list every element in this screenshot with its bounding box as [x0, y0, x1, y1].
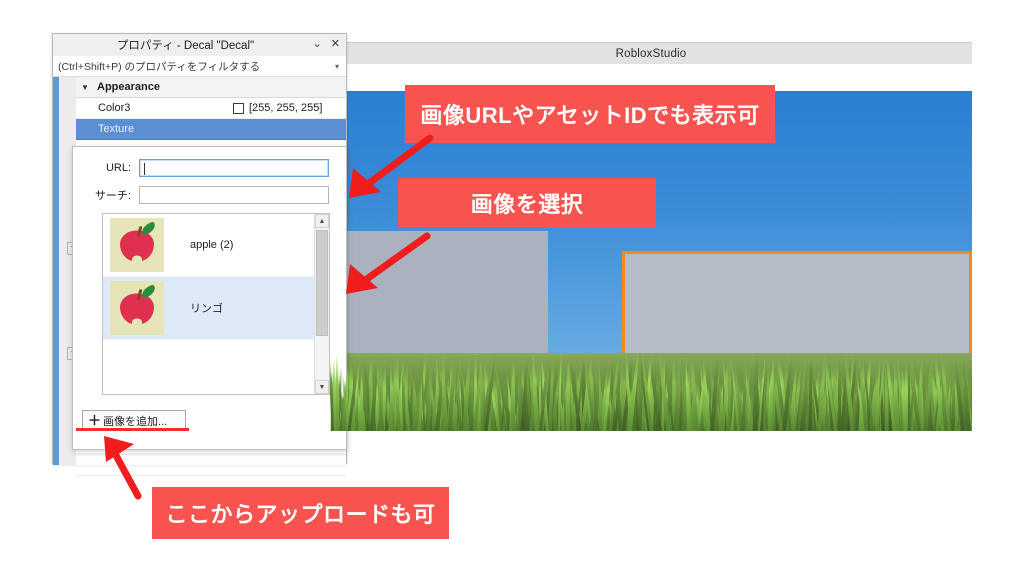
- url-field-row: URL:: [73, 159, 331, 177]
- apple-icon: [110, 218, 164, 272]
- image-picker-popup: URL: サーチ: apple (2): [72, 146, 347, 450]
- image-list[interactable]: apple (2) リンゴ ▲ ▼: [102, 213, 330, 395]
- scroll-up-icon[interactable]: ▲: [315, 214, 329, 228]
- arrow-to-image-list: [322, 228, 432, 308]
- property-name: Texture: [98, 123, 134, 135]
- screenshot-root: RobloxStudio プロパティ - Decal "Decal" ⌄ ✕: [0, 0, 1024, 562]
- annotation-url-asset: 画像URLやアセットIDでも表示可: [405, 85, 775, 143]
- url-input[interactable]: [139, 159, 329, 177]
- text-caret: [144, 163, 145, 175]
- list-item[interactable]: apple (2): [103, 214, 329, 276]
- property-row-color3[interactable]: Color3 [255, 255, 255]: [76, 98, 346, 119]
- chevron-down-icon[interactable]: ▾: [335, 62, 339, 71]
- annotation-text: 画像URLやアセットIDでも表示可: [420, 98, 759, 130]
- list-item-label: apple (2): [190, 239, 233, 251]
- properties-titlebar: プロパティ - Decal "Decal" ⌄ ✕: [53, 34, 346, 57]
- list-item[interactable]: リンゴ: [103, 277, 329, 339]
- apple-icon: [110, 281, 164, 335]
- annotation-select-image: 画像を選択: [398, 178, 656, 228]
- list-item-label: リンゴ: [190, 300, 223, 316]
- studio-titlebar: RobloxStudio: [330, 42, 972, 66]
- properties-section-appearance[interactable]: ▼ Appearance: [76, 77, 346, 98]
- arrow-to-add-button: [96, 432, 186, 502]
- url-label: URL:: [73, 162, 131, 174]
- list-separator: [103, 339, 329, 340]
- color-value-text: [255, 255, 255]: [249, 102, 322, 114]
- search-input[interactable]: [139, 186, 329, 204]
- annotation-upload-here: ここからアップロードも可: [152, 487, 449, 539]
- property-value[interactable]: [255, 255, 255]: [233, 102, 322, 114]
- properties-titlebar-buttons: ⌄ ✕: [313, 37, 340, 51]
- grass-layer: [330, 335, 972, 431]
- scroll-down-icon[interactable]: ▼: [315, 380, 329, 394]
- section-label: Appearance: [97, 81, 160, 93]
- grass-blade: [838, 355, 842, 431]
- close-icon[interactable]: ✕: [331, 37, 340, 51]
- color-swatch-icon[interactable]: [233, 103, 244, 114]
- property-row-texture[interactable]: Texture: [76, 119, 346, 140]
- add-button-highlight-underline: [76, 428, 189, 431]
- plus-icon: ＋: [88, 414, 101, 427]
- chevron-down-icon[interactable]: ⌄: [313, 37, 322, 51]
- apple-notch: [132, 319, 142, 326]
- properties-filter-placeholder: (Ctrl+Shift+P) のプロパティをフィルタする: [53, 59, 260, 74]
- arrow-to-url-field: [325, 130, 435, 210]
- add-image-label: 画像を追加...: [103, 413, 167, 429]
- search-field-row: サーチ:: [73, 186, 331, 204]
- properties-panel-title: プロパティ - Decal "Decal": [53, 37, 318, 53]
- annotation-text: 画像を選択: [471, 187, 584, 219]
- annotation-text: ここからアップロードも可: [165, 497, 435, 529]
- chevron-down-icon[interactable]: ▼: [81, 83, 89, 92]
- properties-filter-input[interactable]: (Ctrl+Shift+P) のプロパティをフィルタする ▾: [53, 56, 346, 77]
- search-label: サーチ:: [73, 187, 131, 203]
- apple-notch: [132, 256, 142, 263]
- studio-window-title: RobloxStudio: [616, 48, 687, 60]
- property-name: Color3: [98, 102, 130, 114]
